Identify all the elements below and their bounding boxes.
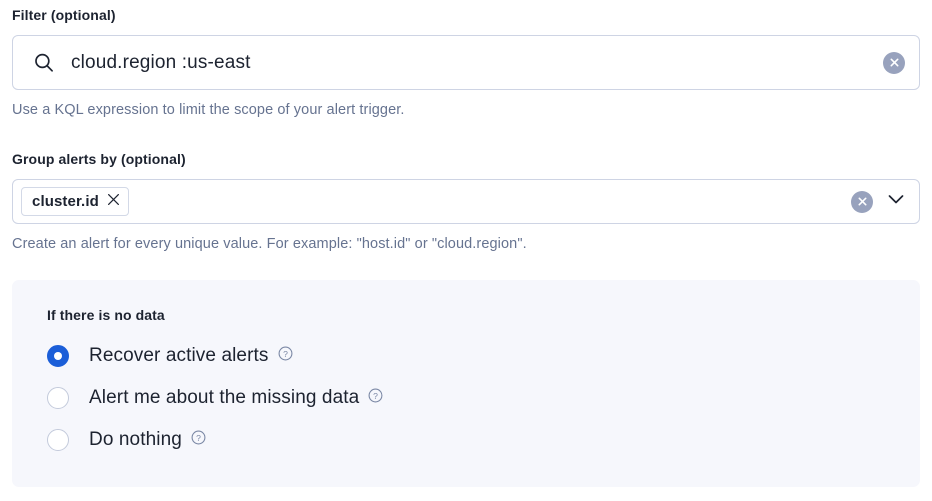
filter-help-text: Use a KQL expression to limit the scope … — [12, 100, 920, 120]
filter-field-group: Filter (optional) cloud.region :us-east … — [12, 6, 920, 120]
radio-option-alert-missing-data[interactable]: Alert me about the missing data ? — [47, 385, 920, 411]
radio-label: Recover active alerts — [89, 344, 269, 368]
svg-text:?: ? — [196, 433, 201, 443]
radio-mark-unselected[interactable] — [47, 387, 69, 409]
question-circle-icon[interactable]: ? — [191, 430, 206, 450]
clear-circle-icon[interactable] — [883, 52, 905, 74]
filter-label: Filter (optional) — [12, 6, 920, 24]
svg-text:?: ? — [283, 349, 288, 359]
radio-label: Do nothing — [89, 428, 182, 452]
filter-search-input[interactable]: cloud.region :us-east — [12, 35, 920, 90]
search-icon — [33, 52, 55, 74]
radio-option-recover-active-alerts[interactable]: Recover active alerts ? — [47, 343, 920, 369]
svg-text:?: ? — [373, 391, 378, 401]
alert-rule-form: Filter (optional) cloud.region :us-east … — [0, 0, 932, 501]
group-by-help-text: Create an alert for every unique value. … — [12, 234, 920, 254]
close-x-icon[interactable] — [107, 193, 120, 211]
group-by-field-group: Group alerts by (optional) cluster.id — [12, 150, 920, 254]
question-circle-icon[interactable]: ? — [278, 346, 293, 366]
group-by-pill-cluster-id[interactable]: cluster.id — [21, 187, 129, 216]
pill-label: cluster.id — [32, 193, 99, 211]
combobox-actions — [851, 188, 907, 215]
question-circle-icon[interactable]: ? — [368, 388, 383, 408]
group-by-label: Group alerts by (optional) — [12, 150, 920, 168]
filter-input-value[interactable]: cloud.region :us-east — [71, 51, 883, 75]
chevron-down-icon[interactable] — [885, 188, 907, 215]
clear-circle-icon[interactable] — [851, 191, 873, 213]
radio-mark-unselected[interactable] — [47, 429, 69, 451]
radio-mark-selected[interactable] — [47, 345, 69, 367]
no-data-panel: If there is no data Recover active alert… — [12, 280, 920, 487]
radio-option-do-nothing[interactable]: Do nothing ? — [47, 427, 920, 453]
group-by-combobox[interactable]: cluster.id — [12, 179, 920, 224]
radio-label: Alert me about the missing data — [89, 386, 359, 410]
no-data-title: If there is no data — [47, 306, 920, 324]
